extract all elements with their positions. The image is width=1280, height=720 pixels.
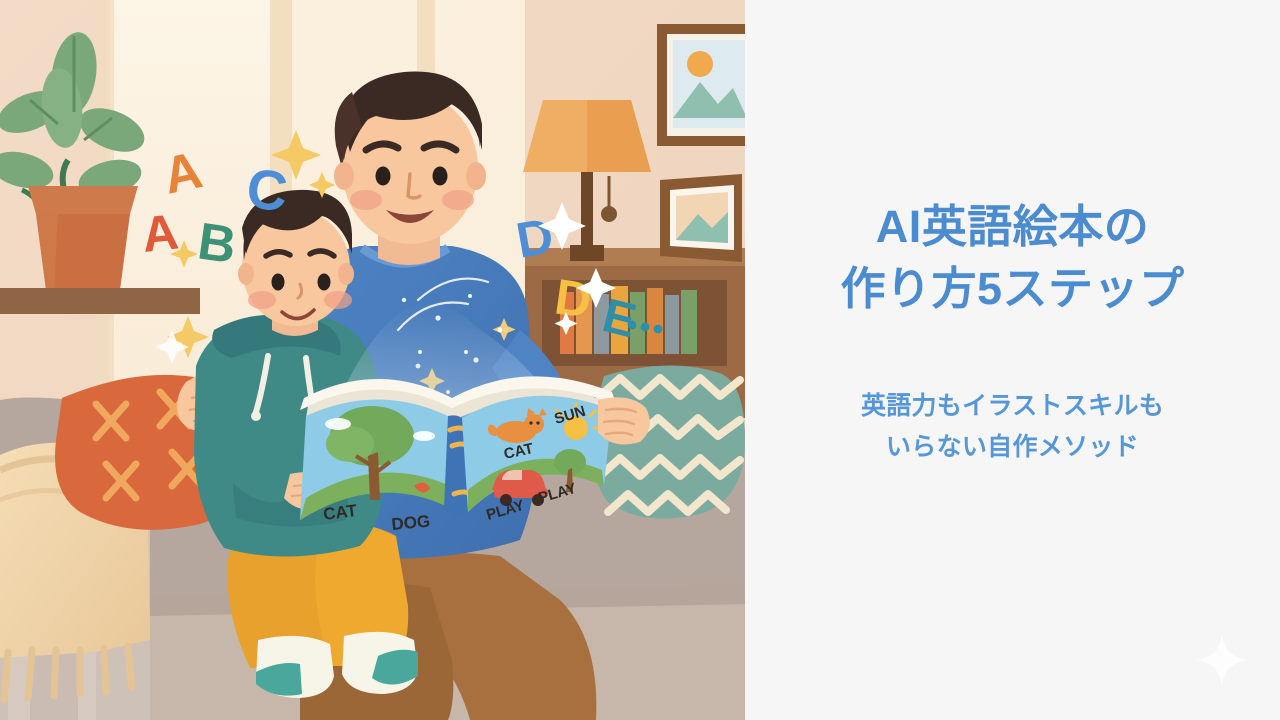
headline-line-1: AI英語絵本の [793, 196, 1233, 258]
framed-landscape-picture [657, 24, 745, 146]
floating-letter-b-green: B [194, 212, 239, 275]
slide-root: CAT DOG [0, 0, 1280, 720]
illustration-canvas: CAT DOG [0, 0, 745, 720]
framed-photo [660, 174, 742, 262]
sparkle-icon [1194, 632, 1250, 688]
floating-letter-c-blue: C [244, 156, 291, 223]
page-title: AI英語絵本の 作り方5ステップ [793, 196, 1233, 320]
page-subtitle: 英語力もイラストスキルも いらない自作メソッド [793, 386, 1233, 467]
hero-illustration: CAT DOG [0, 0, 745, 720]
headline-line-2: 作り方5ステップ [793, 258, 1233, 320]
book-word-dog: DOG [391, 512, 431, 534]
subhead-line-2: いらない自作メソッド [793, 427, 1233, 468]
subhead-line-1: 英語力もイラストスキルも [793, 386, 1233, 427]
floating-letter-d-yellow: D [551, 268, 595, 328]
text-panel: AI英語絵本の 作り方5ステップ 英語力もイラストスキルも いらない自作メソッド [745, 0, 1280, 720]
